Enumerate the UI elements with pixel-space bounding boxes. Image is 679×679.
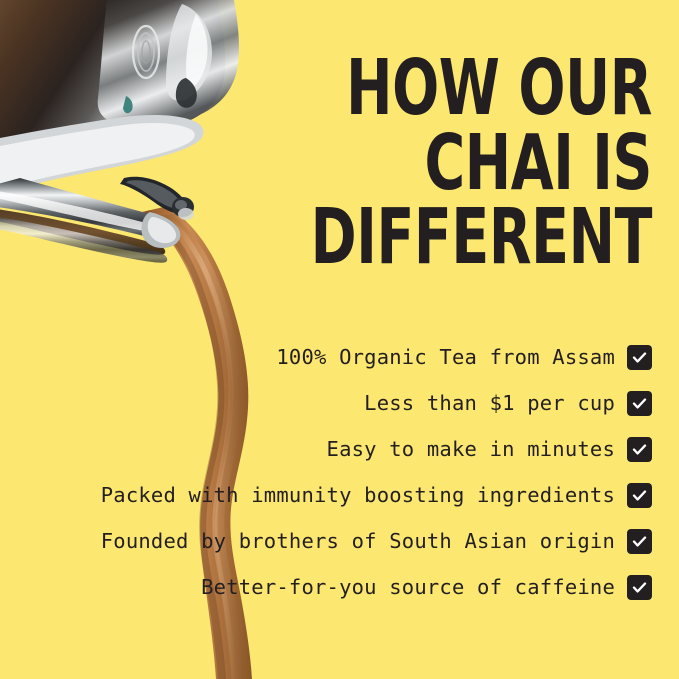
- list-item: 100% Organic Tea from Assam: [12, 334, 652, 380]
- checklist-item-label: 100% Organic Tea from Assam: [276, 347, 615, 368]
- chai-marketing-poster: HOW OUR CHAI IS DIFFERENT 100% Organic T…: [0, 0, 679, 679]
- checkbox-checked: [627, 391, 652, 416]
- checklist-item-label: Better-for-you source of caffeine: [201, 577, 615, 598]
- checkbox-checked: [627, 345, 652, 370]
- headline-line-3: DIFFERENT: [284, 201, 652, 276]
- checklist-item-label: Less than $1 per cup: [364, 393, 615, 414]
- list-item: Less than $1 per cup: [12, 380, 652, 426]
- feature-checklist: 100% Organic Tea from Assam Less than $1…: [12, 334, 652, 610]
- list-item: Founded by brothers of South Asian origi…: [12, 518, 652, 564]
- stainless-steel-teapot: [0, 0, 330, 290]
- checkbox-checked: [627, 575, 652, 600]
- list-item: Packed with immunity boosting ingredient…: [12, 472, 652, 518]
- checklist-item-label: Founded by brothers of South Asian origi…: [101, 531, 615, 552]
- checklist-item-label: Packed with immunity boosting ingredient…: [101, 485, 615, 506]
- headline-line-1: HOW OUR: [284, 52, 652, 127]
- headline-line-2: CHAI IS: [284, 127, 652, 202]
- checklist-item-label: Easy to make in minutes: [327, 439, 615, 460]
- list-item: Better-for-you source of caffeine: [12, 564, 652, 610]
- checkbox-checked: [627, 529, 652, 554]
- checkbox-checked: [627, 483, 652, 508]
- checkbox-checked: [627, 437, 652, 462]
- list-item: Easy to make in minutes: [12, 426, 652, 472]
- page-title: HOW OUR CHAI IS DIFFERENT: [284, 52, 652, 276]
